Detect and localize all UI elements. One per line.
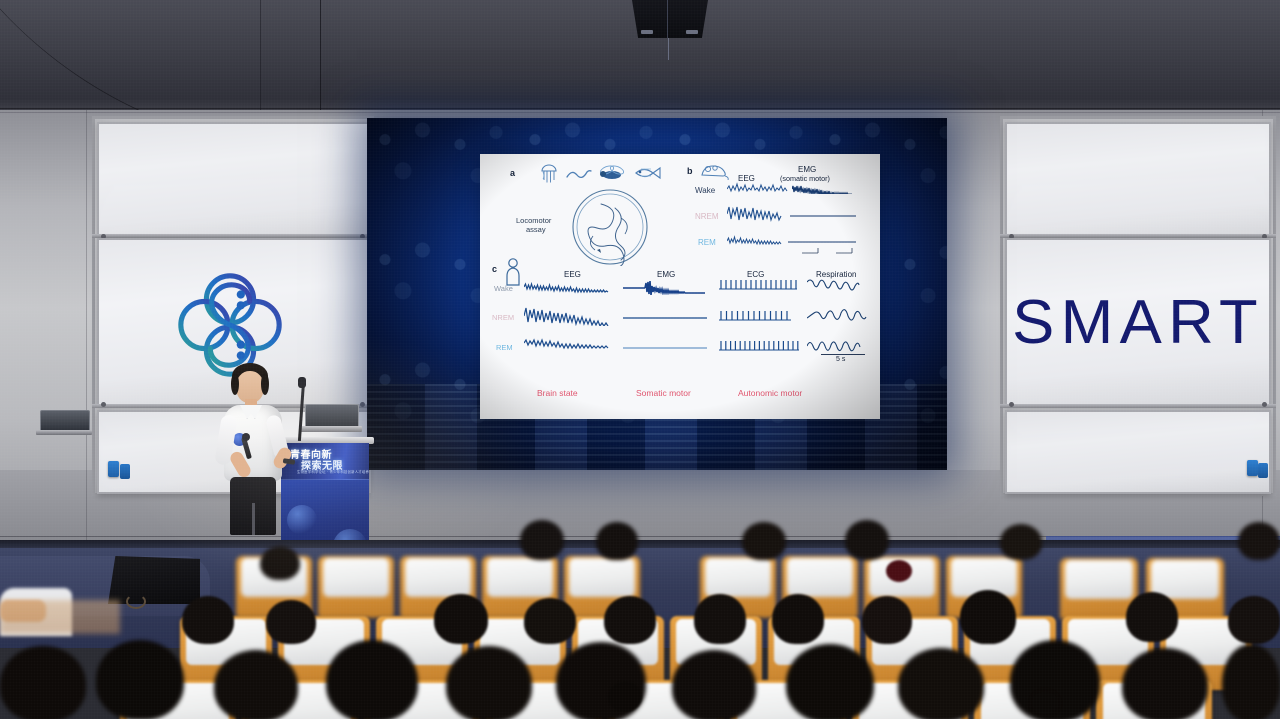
marker-left[interactable] [108, 461, 119, 477]
laptop-lid [305, 404, 359, 428]
audience-head [1000, 524, 1042, 560]
audience-head-foreground [446, 646, 532, 719]
audience-head-foreground [326, 640, 418, 719]
audience-head [266, 600, 316, 644]
audience-head [434, 594, 488, 644]
speaker-hair-left [231, 373, 239, 395]
marker-right[interactable] [1247, 460, 1258, 476]
audience-head [694, 594, 746, 644]
audience-head [1228, 596, 1280, 644]
laptop-on-podium[interactable] [300, 404, 362, 434]
podium-mic-head [298, 377, 306, 388]
ceiling-seam-vertical [260, 0, 261, 110]
audience-head [742, 522, 786, 560]
laptop[interactable] [36, 410, 92, 436]
seat[interactable] [318, 556, 394, 618]
audience-head [604, 596, 656, 644]
audience-head-foreground [786, 644, 874, 719]
audience-head [960, 590, 1016, 644]
audience-head-foreground [1222, 644, 1280, 719]
whiteboard-rail-right-lower [1000, 404, 1276, 408]
projector-mount-b [686, 30, 698, 34]
audience-head [1126, 592, 1178, 642]
audience-head [1238, 522, 1280, 560]
speaker-leg-gap [252, 503, 255, 535]
projector-wire [668, 38, 669, 60]
audience-head [182, 596, 234, 644]
audience-head-foreground [214, 650, 298, 719]
stage-monitor-speaker [108, 556, 200, 604]
whiteboard-clip-right-d [1262, 402, 1267, 407]
wall-seam-top [0, 112, 1280, 113]
whiteboard-panel-right-lower[interactable] [1005, 410, 1271, 494]
audience-head [596, 522, 638, 560]
speaker-presenter [204, 363, 300, 535]
smart-wordmark: SMART [1004, 292, 1271, 354]
audience-head-foreground [898, 648, 984, 719]
laptop-base [36, 430, 92, 435]
projection-screen[interactable]: a [367, 118, 947, 470]
wall-seam-left [86, 110, 87, 570]
audience-head-foreground [1122, 648, 1208, 719]
whiteboard-unit-right[interactable]: SMART [1000, 116, 1276, 496]
audience-head [524, 598, 576, 644]
audience-head [862, 596, 912, 644]
screen-vignette [367, 118, 947, 470]
audience-hair-bun [608, 682, 642, 712]
laptop-screen [40, 410, 90, 432]
projector-mount-a [641, 30, 653, 34]
audience-head [845, 520, 889, 560]
audience-hair-highlight [886, 560, 912, 582]
whiteboard-panel-right-main[interactable]: SMART [1005, 238, 1271, 406]
audience-hair-bun [1030, 690, 1060, 716]
whiteboard-panel-right-upper[interactable] [1005, 122, 1271, 238]
podium-subline: 生物医学科学论坛 · 青少年科技创新人才培养计划 [297, 469, 369, 474]
audience-head-foreground [0, 646, 86, 719]
whiteboard-clip-right-c [1009, 402, 1014, 407]
speaker-hair-right [261, 373, 269, 395]
lecture-hall-photo: SMART a [0, 0, 1280, 719]
microphone-capsule [242, 433, 250, 441]
eraser-left[interactable] [120, 464, 130, 479]
laptop-keyboard [300, 426, 362, 432]
ceiling-seam [0, 108, 1280, 109]
speaker-cable [126, 594, 146, 609]
eraser-right[interactable] [1258, 463, 1268, 478]
audience-head-foreground [672, 650, 756, 719]
whiteboard-panel-left-upper[interactable] [97, 122, 369, 238]
audience-head [260, 546, 300, 580]
projector-box-edge [667, 0, 668, 38]
audience-head [772, 594, 824, 644]
audience-desk-left [0, 600, 120, 634]
whiteboard-clip-left-c [101, 402, 106, 407]
audience-head [520, 520, 564, 560]
audience-head-foreground [96, 640, 184, 719]
